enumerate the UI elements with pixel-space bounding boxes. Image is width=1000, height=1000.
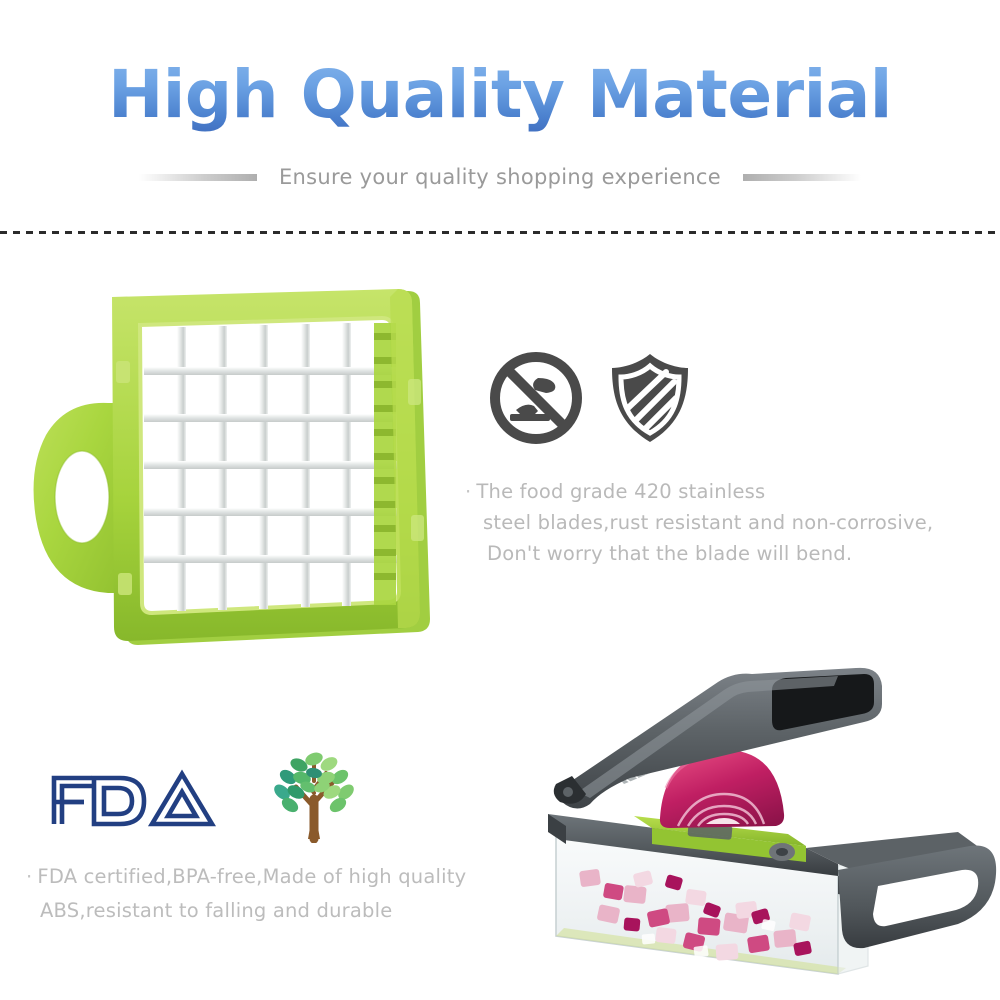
page-title: High Quality Material bbox=[0, 52, 1000, 138]
shield-icon bbox=[602, 348, 698, 448]
header: High Quality Material Ensure your qualit… bbox=[0, 0, 1000, 200]
material-feature-text: ·FDA certified,BPA-free,Made of high qua… bbox=[26, 860, 586, 928]
page-subtitle: Ensure your quality shopping experience bbox=[279, 165, 721, 189]
product-image-chopper bbox=[538, 618, 1000, 1000]
material-feature-line-1-text: FDA certified,BPA-free,Made of high qual… bbox=[37, 865, 466, 888]
subtitle-row: Ensure your quality shopping experience bbox=[0, 160, 1000, 194]
product-image-blade-plate bbox=[22, 283, 452, 683]
bullet-icon: · bbox=[26, 865, 37, 888]
blade-feature-line-2: steel blades,rust resistant and non-corr… bbox=[465, 507, 995, 538]
bullet-icon: · bbox=[465, 480, 476, 503]
blade-feature-icons bbox=[488, 348, 698, 448]
product-feature-page: High Quality Material Ensure your qualit… bbox=[0, 0, 1000, 1000]
material-feature-line-1: ·FDA certified,BPA-free,Made of high qua… bbox=[26, 860, 586, 894]
subtitle-rule-left-icon bbox=[139, 174, 257, 181]
blade-feature-line-1-text: The food grade 420 stainless bbox=[476, 480, 765, 503]
fda-logo bbox=[48, 762, 216, 828]
chopper-illustration bbox=[538, 618, 1000, 1000]
blade-plate-illustration bbox=[22, 283, 452, 683]
dashed-divider bbox=[0, 231, 1000, 234]
blade-feature-text: ·The food grade 420 stainless steel blad… bbox=[465, 476, 995, 569]
eco-tree-icon bbox=[268, 747, 360, 843]
material-feature-line-2: ABS,resistant to falling and durable bbox=[26, 894, 586, 928]
blade-feature-line-1: ·The food grade 420 stainless bbox=[465, 476, 995, 507]
certification-icons bbox=[48, 745, 348, 845]
subtitle-rule-right-icon bbox=[743, 174, 861, 181]
blade-feature-line-3: Don't worry that the blade will bend. bbox=[465, 538, 995, 569]
no-bend-prohibition-icon bbox=[488, 348, 584, 448]
